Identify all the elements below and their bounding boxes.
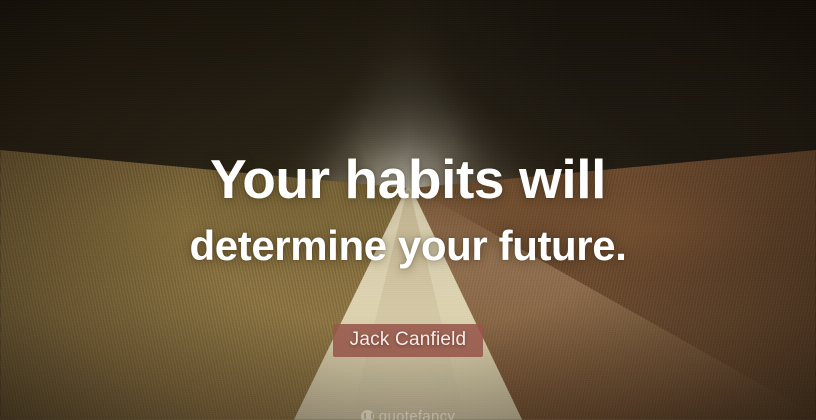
quote-poster: Your habits will determine your future. … [0, 0, 816, 420]
watermark-label: quotefancy [379, 409, 455, 420]
quotefancy-logo-icon [361, 410, 374, 420]
author-attribution: Jack Canfield [0, 324, 816, 357]
author-badge: Jack Canfield [333, 324, 484, 357]
watermark: quotefancy [0, 409, 816, 420]
quote-text-block: Your habits will determine your future. [0, 150, 816, 269]
quote-line-2: determine your future. [0, 223, 816, 268]
quote-line-1: Your habits will [0, 150, 816, 209]
